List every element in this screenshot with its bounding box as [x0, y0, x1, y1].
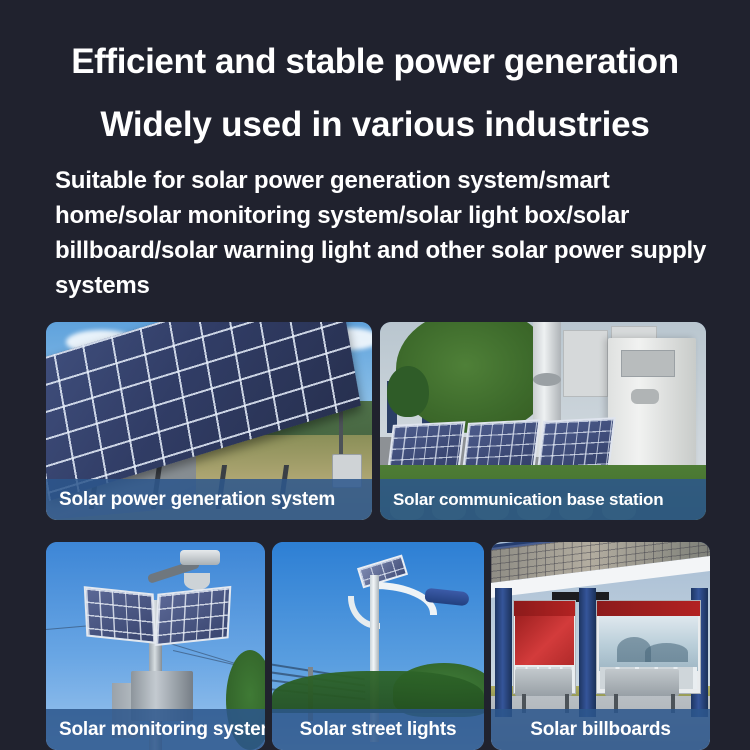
caption-solar-billboards: Solar billboards: [491, 709, 710, 750]
gallery-row-bottom: Solar monitoring system Solar street lig…: [46, 542, 710, 750]
gallery-row-top: Solar power generation system: [46, 322, 706, 520]
caption-solar-monitoring-system: Solar monitoring system: [46, 709, 265, 750]
subcopy-paragraph: Suitable for solar power generation syst…: [55, 163, 720, 303]
card-solar-street-lights[interactable]: Solar street lights: [272, 542, 484, 750]
caption-solar-power-generation-system: Solar power generation system: [46, 479, 372, 520]
card-solar-power-generation-system[interactable]: Solar power generation system: [46, 322, 372, 520]
caption-solar-communication-base-station: Solar communication base station: [380, 479, 706, 520]
card-solar-billboards[interactable]: Solar billboards: [491, 542, 710, 750]
headline-primary: Efficient and stable power generation: [0, 40, 750, 84]
headline-secondary: Widely used in various industries: [0, 103, 750, 147]
caption-solar-street-lights: Solar street lights: [272, 709, 484, 750]
card-solar-communication-base-station[interactable]: Solar communication base station: [380, 322, 706, 520]
solar-applications-banner: Efficient and stable power generation Wi…: [0, 0, 750, 750]
card-solar-monitoring-system[interactable]: Solar monitoring system: [46, 542, 265, 750]
